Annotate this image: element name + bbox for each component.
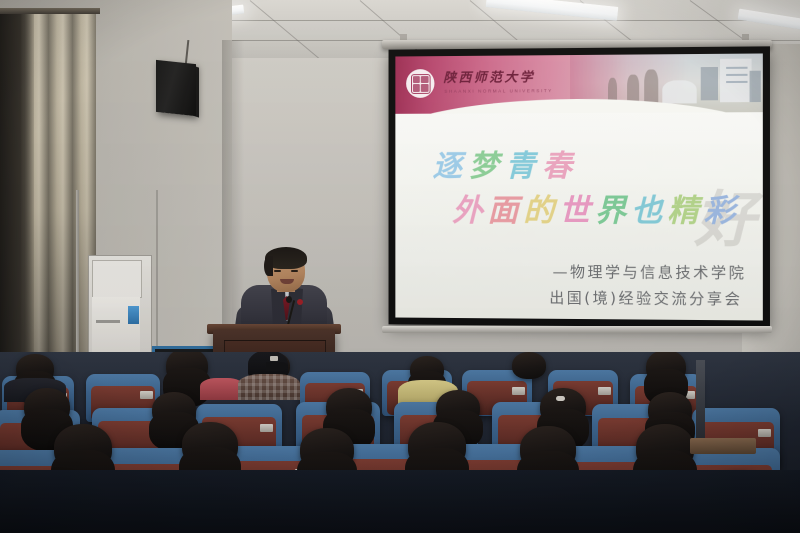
projected-slide: 陕西师范大学 SHAANXI NORMAL UNIVERSITY 好 逐梦青春 …: [395, 53, 762, 320]
slide-title-char: 也: [631, 185, 667, 230]
slide-title-char: 青: [505, 141, 542, 185]
slide-subtitle-department: —物理学与信息技术学院: [553, 261, 747, 283]
slide-subtitle-event: 出国(境)经验交流分享会: [549, 287, 742, 309]
audience-head: [54, 424, 112, 472]
slide-title-char: 的: [523, 185, 559, 230]
wall-mounted-loudspeaker: [156, 60, 196, 116]
curtain-rod: [0, 8, 100, 14]
ac-grill: [92, 260, 142, 298]
slide-title-char: 界: [595, 185, 631, 230]
audience-head: [408, 422, 466, 470]
university-seal-logo: [406, 69, 434, 98]
curtain-shadow: [0, 12, 34, 370]
university-name-cn: 陕西师范大学: [443, 71, 535, 86]
audience-head: [182, 422, 238, 468]
screen-bottom-weight-bar: [382, 326, 772, 333]
slide-title-char: 世: [559, 185, 595, 230]
slide-title-char: 春: [542, 141, 579, 185]
slide-title-char: 精: [667, 185, 703, 230]
presenter-eye-right: [291, 270, 298, 272]
university-name-en: SHAANXI NORMAL UNIVERSITY: [444, 88, 553, 95]
microphone-head: [286, 296, 292, 303]
audience-head: [436, 390, 480, 426]
slide-header-banner: 陕西师范大学 SHAANXI NORMAL UNIVERSITY: [395, 53, 762, 113]
hair-tie: [556, 396, 565, 401]
audience-shoulders: [238, 374, 300, 400]
ac-brand-label: [96, 320, 120, 323]
audience-head: [646, 352, 686, 384]
audience-head: [166, 352, 208, 384]
audience-head: [24, 388, 70, 426]
slide-title-char: 外: [452, 185, 487, 230]
presenter-eye-left: [274, 270, 281, 272]
presenter-hair-side: [264, 256, 273, 276]
audience-head: [300, 428, 354, 472]
slide-body: 好 逐梦青春 外面的世界也精彩 —物理学与信息技术学院 出国(境)经验交流分享会: [395, 112, 762, 320]
audience-head: [648, 392, 692, 428]
slide-title-char: 逐: [433, 141, 469, 185]
audience-head: [540, 388, 586, 426]
audience-head: [326, 388, 372, 426]
slide-title-char: 彩: [704, 185, 741, 230]
pull-down-projection-screen: 陕西师范大学 SHAANXI NORMAL UNIVERSITY 好 逐梦青春 …: [389, 46, 770, 327]
slide-title-char: 面: [488, 185, 524, 230]
slide-title-line-2: 外面的世界也精彩: [452, 185, 740, 230]
ac-blue-badge: [128, 306, 139, 324]
slide-title-line-1: 逐梦青春: [433, 141, 579, 185]
lecture-hall-photo: 陕西师范大学 SHAANXI NORMAL UNIVERSITY 好 逐梦青春 …: [0, 0, 800, 533]
presenter-lapel-pin: [297, 299, 303, 305]
wall-seam: [156, 190, 158, 370]
foreground-shadow: [0, 470, 800, 533]
ac-pipe: [76, 190, 79, 375]
audience-head: [520, 426, 576, 472]
audience-head: [152, 392, 196, 428]
slide-title-char: 梦: [469, 141, 506, 185]
audience-head: [636, 424, 694, 472]
side-table: [690, 438, 756, 454]
audience-head: [512, 352, 546, 379]
